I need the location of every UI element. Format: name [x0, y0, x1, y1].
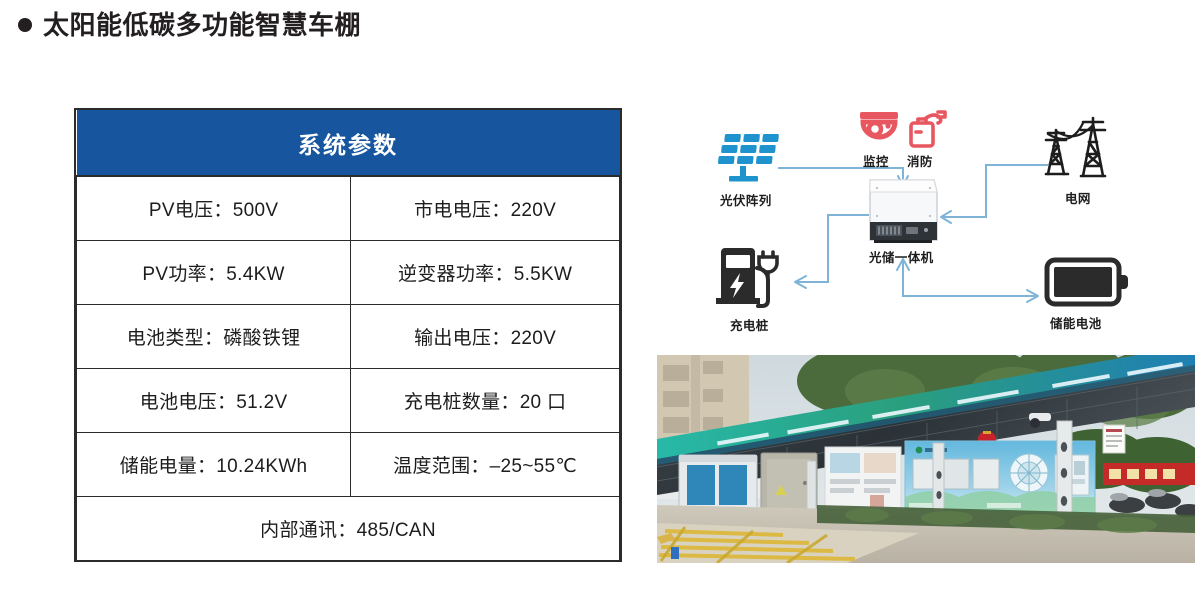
inverter-cabinet-icon [870, 180, 937, 243]
cell-internal-comm: 内部通讯：485/CAN [77, 496, 620, 560]
label-battery-storage: 储能电池 [1050, 313, 1102, 332]
table-row: 储能电量：10.24KWh 温度范围：–25~55℃ [77, 432, 620, 496]
table-header-cell: 系统参数 [77, 110, 620, 176]
page-title: 太阳能低碳多功能智慧车棚 [18, 12, 361, 38]
cell-battery-voltage: 电池电压：51.2V [77, 368, 351, 432]
cell-charger-count: 充电桩数量：20 口 [351, 368, 620, 432]
solar-carport-photo [657, 355, 1195, 563]
cell-storage-capacity: 储能电量：10.24KWh [77, 432, 351, 496]
cell-output-voltage: 输出电压：220V [351, 304, 620, 368]
link-inverter-to-charger [797, 215, 868, 282]
table-header-row: 系统参数 [77, 110, 620, 176]
table-row: 内部通讯：485/CAN [77, 496, 620, 560]
cell-inverter-power: 逆变器功率：5.5KW [351, 240, 620, 304]
label-charging-pile: 充电桩 [730, 315, 769, 334]
cell-battery-type: 电池类型：磷酸铁锂 [77, 304, 351, 368]
table-row: PV功率：5.4KW 逆变器功率：5.5KW [77, 240, 620, 304]
fire-extinguisher-icon [911, 112, 945, 146]
system-architecture-diagram: 光伏阵列 监控 消防 电网 光储一体机 充电桩 储能电池 [655, 100, 1200, 350]
dome-camera-icon [860, 112, 898, 137]
bullet-dot-icon [18, 18, 32, 32]
cell-mains-voltage: 市电电压：220V [351, 176, 620, 240]
table-row: 电池类型：磷酸铁锂 输出电压：220V [77, 304, 620, 368]
link-grid-to-inverter [943, 165, 1047, 217]
cell-pv-voltage: PV电压：500V [77, 176, 351, 240]
slide-page: 太阳能低碳多功能智慧车棚 系统参数 PV电压：500V 市电电压：220V PV… [0, 0, 1200, 605]
ev-charger-icon [716, 248, 777, 306]
page-title-text: 太阳能低碳多功能智慧车棚 [43, 12, 361, 38]
label-monitoring: 监控 [863, 151, 889, 170]
solar-panel-icon [718, 134, 779, 182]
table-row: 电池电压：51.2V 充电桩数量：20 口 [77, 368, 620, 432]
battery-icon [1047, 260, 1128, 304]
label-fire-protection: 消防 [907, 151, 933, 170]
label-pv-array: 光伏阵列 [720, 190, 772, 209]
table-row: PV电压：500V 市电电压：220V [77, 176, 620, 240]
label-power-grid: 电网 [1065, 188, 1091, 207]
transmission-tower-icon [1046, 118, 1105, 176]
cell-pv-power: PV功率：5.4KW [77, 240, 351, 304]
system-parameters-table: 系统参数 PV电压：500V 市电电压：220V PV功率：5.4KW 逆变器功… [74, 108, 622, 562]
cell-temperature-range: 温度范围：–25~55℃ [351, 432, 620, 496]
label-hybrid-inverter: 光储一体机 [869, 247, 934, 266]
